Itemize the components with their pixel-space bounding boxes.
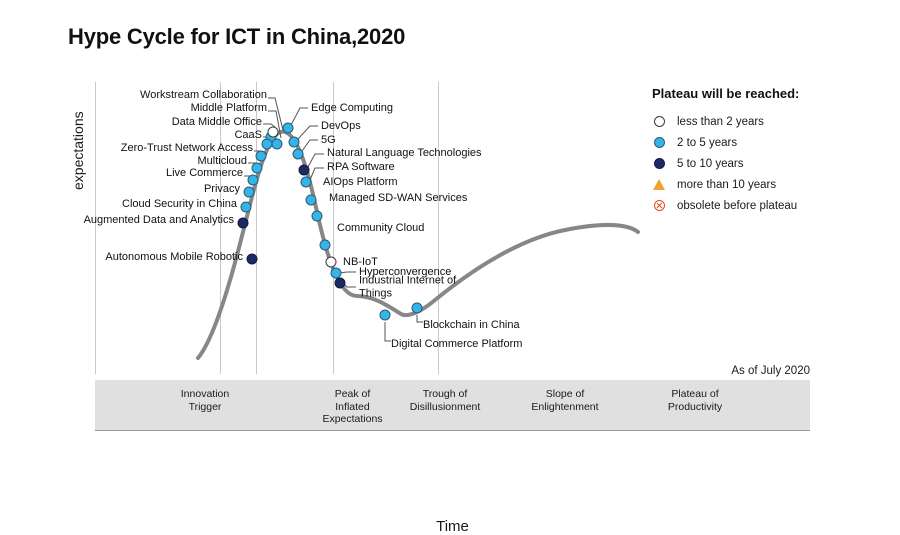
data-point-label: Zero-Trust Network Access — [121, 142, 253, 155]
hype-cycle-chart: Hype Cycle for ICT in China,2020 expecta… — [0, 0, 900, 489]
data-point-label: Privacy — [204, 183, 240, 196]
data-point-label: AIOps Platform — [323, 176, 398, 189]
y-axis-label: expectations — [70, 111, 86, 190]
data-point-dot[interactable] — [238, 218, 249, 229]
legend-title: Plateau will be reached: — [652, 86, 882, 101]
data-point-label: Natural Language Technologies — [327, 147, 482, 160]
data-point-dot[interactable] — [289, 137, 300, 148]
data-point-label: Industrial Internet of Things — [359, 275, 469, 300]
legend-circle-icon-wrap — [652, 158, 668, 170]
data-point-label: Community Cloud — [337, 222, 424, 235]
data-point-label: Managed SD-WAN Services — [329, 192, 467, 205]
x-axis-label: Time — [95, 518, 810, 535]
data-point-dot[interactable] — [306, 195, 317, 206]
legend-circle-icon — [654, 116, 665, 127]
legend-item-t10p[interactable]: more than 10 years — [652, 176, 882, 194]
legend-item-label: less than 2 years — [677, 116, 764, 128]
legend-circle-icon-wrap — [652, 137, 668, 149]
as-of-date: As of July 2020 — [731, 365, 810, 377]
data-point-label: DevOps — [321, 120, 361, 133]
legend-item-label: obsolete before plateau — [677, 200, 797, 212]
legend-item-label: 2 to 5 years — [677, 137, 737, 149]
data-point-dot[interactable] — [247, 254, 258, 265]
data-point-dot[interactable] — [268, 127, 279, 138]
legend-item-t2[interactable]: less than 2 years — [652, 113, 882, 131]
data-point-dot[interactable] — [299, 165, 310, 176]
triangle-icon — [653, 179, 665, 190]
data-point-dot[interactable] — [244, 187, 255, 198]
data-point-dot[interactable] — [320, 240, 331, 251]
data-point-dot[interactable] — [335, 278, 346, 289]
data-point-label: Edge Computing — [311, 102, 393, 115]
data-point-label: RPA Software — [327, 161, 395, 174]
data-point-label: Digital Commerce Platform — [391, 338, 522, 351]
data-point-dot[interactable] — [283, 123, 294, 134]
data-point-label: Cloud Security in China — [122, 198, 237, 211]
legend-rows: less than 2 years2 to 5 years5 to 10 yea… — [652, 113, 882, 215]
data-point-label: Data Middle Office — [172, 116, 262, 129]
data-point-dot[interactable] — [312, 211, 323, 222]
data-point-label: Multicloud — [197, 155, 247, 168]
legend-item-label: 5 to 10 years — [677, 158, 743, 170]
crossed-circle-icon-wrap — [652, 200, 668, 212]
data-point-label: Augmented Data and Analytics — [84, 214, 234, 227]
data-point-dot[interactable] — [380, 310, 391, 321]
data-point-dot[interactable] — [326, 257, 337, 268]
data-point-label: CaaS — [234, 129, 262, 142]
legend-item-t25[interactable]: 2 to 5 years — [652, 134, 882, 152]
legend-item-obs[interactable]: obsolete before plateau — [652, 197, 882, 215]
data-point-dot[interactable] — [241, 202, 252, 213]
page-title: Hype Cycle for ICT in China,2020 — [68, 24, 405, 50]
data-point-dot[interactable] — [262, 139, 273, 150]
phase-label-0: InnovationTrigger — [95, 388, 315, 413]
phase-label-3: Slope ofEnlightenment — [500, 388, 630, 413]
data-point-label: 5G — [321, 134, 336, 147]
legend-item-t510[interactable]: 5 to 10 years — [652, 155, 882, 173]
phase-label-1: Peak ofInflatedExpectations — [315, 388, 390, 426]
data-point-label: Middle Platform — [191, 102, 267, 115]
legend-item-label: more than 10 years — [677, 179, 776, 191]
data-point-label: Blockchain in China — [423, 319, 520, 332]
legend-circle-icon — [654, 137, 665, 148]
phase-band: InnovationTriggerPeak ofInflatedExpectat… — [95, 380, 810, 431]
phase-label-4: Plateau ofProductivity — [630, 388, 760, 413]
data-point-dot[interactable] — [293, 149, 304, 160]
crossed-circle-icon — [654, 200, 665, 211]
data-point-dot[interactable] — [301, 177, 312, 188]
data-point-dot[interactable] — [256, 151, 267, 162]
data-point-dot[interactable] — [272, 139, 283, 150]
legend-circle-icon — [654, 158, 665, 169]
legend: Plateau will be reached: less than 2 yea… — [652, 86, 882, 218]
triangle-icon-wrap — [652, 179, 668, 191]
data-point-dot[interactable] — [252, 163, 263, 174]
data-point-label: Autonomous Mobile Robotic — [105, 251, 243, 264]
phase-label-2: Trough ofDisillusionment — [390, 388, 500, 413]
legend-circle-icon-wrap — [652, 116, 668, 128]
data-point-dot[interactable] — [412, 303, 423, 314]
data-point-dot[interactable] — [248, 175, 259, 186]
data-point-label: Workstream Collaboration — [140, 89, 267, 102]
data-point-label: Live Commerce — [166, 167, 243, 180]
